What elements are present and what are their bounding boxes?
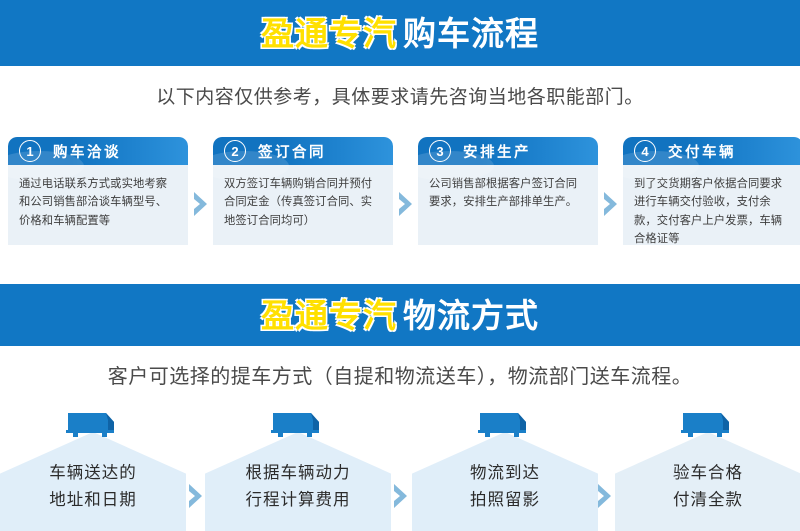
step-body-1: 通过电话联系方式或实地考察和公司销售部洽谈车辆型号、价格和车辆配置等	[8, 165, 188, 230]
truck-icon	[474, 410, 536, 440]
logistics-text-2: 根据车辆动力 行程计算费用	[205, 460, 391, 513]
truck-icon	[267, 410, 329, 440]
logistics-banner-title: 盈通专汽物流方式	[261, 299, 539, 332]
step-number-badge-2: 2	[224, 140, 246, 162]
step-header-3: 3 安排生产	[418, 137, 598, 165]
step-card-2[interactable]: 2 签订合同 双方签订车辆购销合同并预付合同定金（传真签订合同、实地签订合同均可…	[213, 137, 393, 245]
logistics-subtitle: 客户可选择的提车方式（自提和物流送车），物流部门送车流程。	[0, 360, 800, 389]
step-header-2: 2 签订合同	[213, 137, 393, 165]
logistics-items-row: 车辆送达的 地址和日期 根据车辆动力 行程计算费用	[0, 410, 800, 531]
step-number-badge-1: 1	[19, 140, 41, 162]
logistics-text-line2: 地址和日期	[0, 487, 186, 514]
truck-icon	[62, 410, 124, 440]
step-body-4: 到了交货期客户依据合同要求进行车辆交付验收，支付余款，交付客户上户发票，车辆合格…	[623, 165, 800, 245]
chevron-right-icon	[595, 482, 615, 510]
step-body-3: 公司销售部根据客户签订合同要求，安排生产部排单生产。	[418, 165, 598, 212]
step-card-3[interactable]: 3 安排生产 公司销售部根据客户签订合同要求，安排生产部排单生产。	[418, 137, 598, 245]
purchase-banner-subtitle-text: 购车流程	[403, 15, 539, 52]
logistics-text-line1: 车辆送达的	[0, 460, 186, 487]
logistics-item-2[interactable]: 根据车辆动力 行程计算费用	[205, 410, 391, 531]
brand-name: 盈通专汽	[261, 297, 397, 334]
purchase-steps-row: 1 购车洽谈 通过电话联系方式或实地考察和公司销售部洽谈车辆型号、价格和车辆配置…	[0, 137, 800, 245]
step-title-3: 安排生产	[463, 141, 531, 162]
logistics-text-4: 验车合格 付清全款	[615, 460, 800, 513]
logistics-item-4[interactable]: 验车合格 付清全款	[615, 410, 800, 531]
brand-name: 盈通专汽	[261, 15, 397, 52]
chevron-right-icon	[186, 482, 206, 510]
step-title-4: 交付车辆	[668, 141, 736, 162]
purchase-banner-title: 盈通专汽购车流程	[261, 17, 539, 50]
logistics-text-1: 车辆送达的 地址和日期	[0, 460, 186, 513]
logistics-text-3: 物流到达 拍照留影	[412, 460, 598, 513]
step-number-badge-4: 4	[634, 140, 656, 162]
chevron-right-icon	[391, 482, 411, 510]
step-number-badge-3: 3	[429, 140, 451, 162]
logistics-banner: 盈通专汽物流方式	[0, 284, 800, 346]
chevron-right-icon	[600, 189, 622, 219]
logistics-banner-subtitle-text: 物流方式	[403, 297, 539, 334]
purchase-banner: 盈通专汽购车流程	[0, 0, 800, 66]
step-title-2: 签订合同	[258, 141, 326, 162]
step-card-4[interactable]: 4 交付车辆 到了交货期客户依据合同要求进行车辆交付验收，支付余款，交付客户上户…	[623, 137, 800, 245]
chevron-right-icon	[395, 189, 417, 219]
step-header-4: 4 交付车辆	[623, 137, 800, 165]
logistics-text-line1: 物流到达	[412, 460, 598, 487]
logistics-text-line2: 拍照留影	[412, 487, 598, 514]
truck-icon	[677, 410, 739, 440]
chevron-right-icon	[190, 189, 212, 219]
logistics-text-line1: 验车合格	[615, 460, 800, 487]
logistics-item-3[interactable]: 物流到达 拍照留影	[412, 410, 598, 531]
step-card-1[interactable]: 1 购车洽谈 通过电话联系方式或实地考察和公司销售部洽谈车辆型号、价格和车辆配置…	[8, 137, 188, 245]
purchase-subtitle: 以下内容仅供参考，具体要求请先咨询当地各职能部门。	[0, 82, 800, 109]
logistics-text-line2: 付清全款	[615, 487, 800, 514]
step-header-1: 1 购车洽谈	[8, 137, 188, 165]
step-title-1: 购车洽谈	[53, 141, 121, 162]
step-body-2: 双方签订车辆购销合同并预付合同定金（传真签订合同、实地签订合同均可）	[213, 165, 393, 230]
logistics-text-line1: 根据车辆动力	[205, 460, 391, 487]
logistics-item-1[interactable]: 车辆送达的 地址和日期	[0, 410, 186, 531]
logistics-text-line2: 行程计算费用	[205, 487, 391, 514]
